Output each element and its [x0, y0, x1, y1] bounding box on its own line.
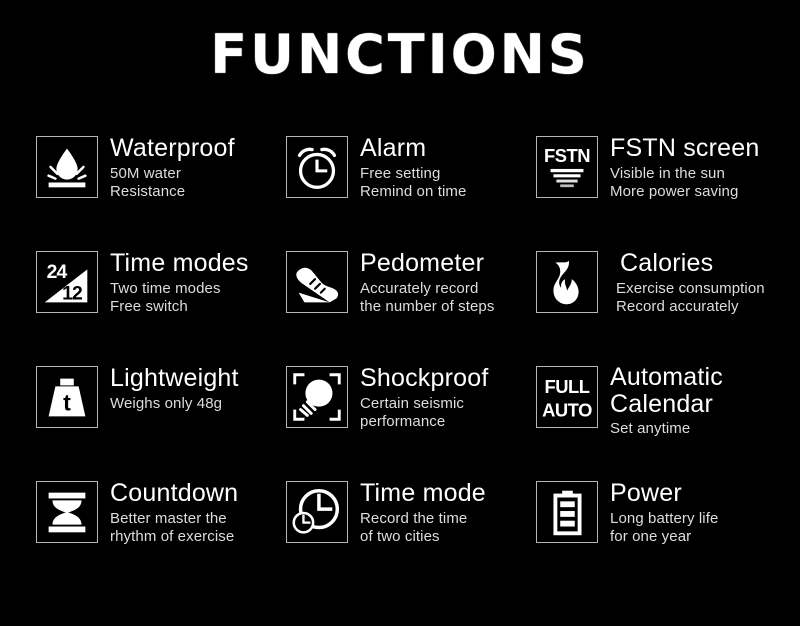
feature-text: Pedometer Accurately record the number o… — [360, 249, 494, 316]
feature-row: Countdown Better master the rhythm of ex… — [36, 479, 776, 594]
feature-item-calories: Calories Exercise consumption Record acc… — [536, 249, 776, 364]
feature-row: Waterproof 50M water Resistance Alarm — [36, 134, 776, 249]
feature-item-shockproof: Shockproof Certain seismic performance — [286, 364, 536, 479]
feature-row: t Lightweight Weighs only 48g — [36, 364, 776, 479]
feature-title: Calories — [620, 249, 765, 278]
feature-text: Shockproof Certain seismic performance — [360, 364, 488, 431]
time-modes-24-12-icon: 24 12 — [36, 251, 98, 313]
feature-title: Pedometer — [360, 249, 494, 278]
feature-desc-line2: for one year — [610, 528, 718, 546]
feature-item-pedometer: Pedometer Accurately record the number o… — [286, 249, 536, 364]
feature-item-time-mode: Time mode Record the time of two cities — [286, 479, 536, 594]
feature-text: Time mode Record the time of two cities — [360, 479, 486, 546]
svg-text:FSTN: FSTN — [544, 145, 590, 166]
feature-text: Automatic Calendar Set anytime — [610, 364, 776, 438]
feature-text: Waterproof 50M water Resistance — [110, 134, 235, 201]
feature-item-lightweight: t Lightweight Weighs only 48g — [36, 364, 286, 479]
feature-desc-line1: Two time modes — [110, 280, 249, 298]
feature-grid: Waterproof 50M water Resistance Alarm — [36, 134, 776, 594]
feature-desc-line2: Free switch — [110, 298, 249, 316]
feature-desc-line1: Record the time — [360, 510, 486, 528]
countdown-hourglass-icon — [36, 481, 98, 543]
feature-desc-line1: Set anytime — [610, 420, 776, 438]
feature-title: Lightweight — [110, 364, 239, 393]
calories-flame-icon — [536, 251, 598, 313]
feature-text: Power Long battery life for one year — [610, 479, 718, 546]
feature-item-power: Power Long battery life for one year — [536, 479, 776, 594]
feature-text: Time modes Two time modes Free switch — [110, 249, 249, 316]
feature-text: FSTN screen Visible in the sun More powe… — [610, 134, 759, 201]
feature-desc-line1: Long battery life — [610, 510, 718, 528]
page-title-text: FUNCTIONS — [210, 28, 589, 82]
feature-text: Alarm Free setting Remind on time — [360, 134, 466, 201]
feature-desc-line2: Resistance — [110, 183, 235, 201]
feature-title: Automatic Calendar — [610, 364, 776, 418]
feature-desc-line1: Weighs only 48g — [110, 395, 239, 413]
lightweight-weight-icon: t — [36, 366, 98, 428]
functions-poster: FUNCTIONS Waterproof 50M water Resistanc… — [0, 0, 800, 626]
feature-desc-line1: 50M water — [110, 165, 235, 183]
feature-desc-line1: Accurately record — [360, 280, 494, 298]
feature-desc-line2: Record accurately — [616, 298, 765, 316]
feature-title: Alarm — [360, 134, 466, 163]
feature-desc-line2: the number of steps — [360, 298, 494, 316]
feature-text: Calories Exercise consumption Record acc… — [620, 249, 765, 316]
feature-desc-line1: Exercise consumption — [616, 280, 765, 298]
feature-title: Time mode — [360, 479, 486, 508]
feature-title: Waterproof — [110, 134, 235, 163]
svg-text:24: 24 — [47, 261, 68, 283]
feature-text: Lightweight Weighs only 48g — [110, 364, 239, 413]
feature-desc-line2: More power saving — [610, 183, 759, 201]
feature-desc-line2: of two cities — [360, 528, 486, 546]
feature-desc-line1: Certain seismic — [360, 395, 488, 413]
page-title: FUNCTIONS — [0, 28, 800, 82]
feature-item-countdown: Countdown Better master the rhythm of ex… — [36, 479, 286, 594]
feature-desc-line2: Remind on time — [360, 183, 466, 201]
feature-row: 24 12 Time modes Two time modes Free swi… — [36, 249, 776, 364]
svg-text:FULL: FULL — [544, 376, 589, 397]
fstn-screen-icon: FSTN — [536, 136, 598, 198]
pedometer-shoe-icon — [286, 251, 348, 313]
full-auto-calendar-icon: FULL AUTO — [536, 366, 598, 428]
feature-desc-line1: Visible in the sun — [610, 165, 759, 183]
svg-text:AUTO: AUTO — [542, 399, 592, 420]
feature-text: Countdown Better master the rhythm of ex… — [110, 479, 238, 546]
feature-title: Time modes — [110, 249, 249, 278]
feature-item-waterproof: Waterproof 50M water Resistance — [36, 134, 286, 249]
shockproof-bulb-icon — [286, 366, 348, 428]
time-mode-dual-clock-icon — [286, 481, 348, 543]
feature-item-automatic-calendar: FULL AUTO Automatic Calendar Set anytime — [536, 364, 776, 479]
feature-item-fstn-screen: FSTN FSTN screen Visible in the sun More… — [536, 134, 776, 249]
feature-desc-line2: rhythm of exercise — [110, 528, 238, 546]
power-battery-icon — [536, 481, 598, 543]
svg-text:t: t — [63, 390, 71, 416]
waterproof-droplet-splash-icon — [36, 136, 98, 198]
alarm-clock-icon — [286, 136, 348, 198]
feature-title: Power — [610, 479, 718, 508]
feature-title: FSTN screen — [610, 134, 759, 163]
feature-item-time-modes: 24 12 Time modes Two time modes Free swi… — [36, 249, 286, 364]
feature-desc-line1: Free setting — [360, 165, 466, 183]
feature-title: Shockproof — [360, 364, 488, 393]
feature-item-alarm: Alarm Free setting Remind on time — [286, 134, 536, 249]
feature-title: Countdown — [110, 479, 238, 508]
feature-desc-line2: performance — [360, 413, 488, 431]
feature-desc-line1: Better master the — [110, 510, 238, 528]
svg-text:12: 12 — [62, 282, 82, 304]
